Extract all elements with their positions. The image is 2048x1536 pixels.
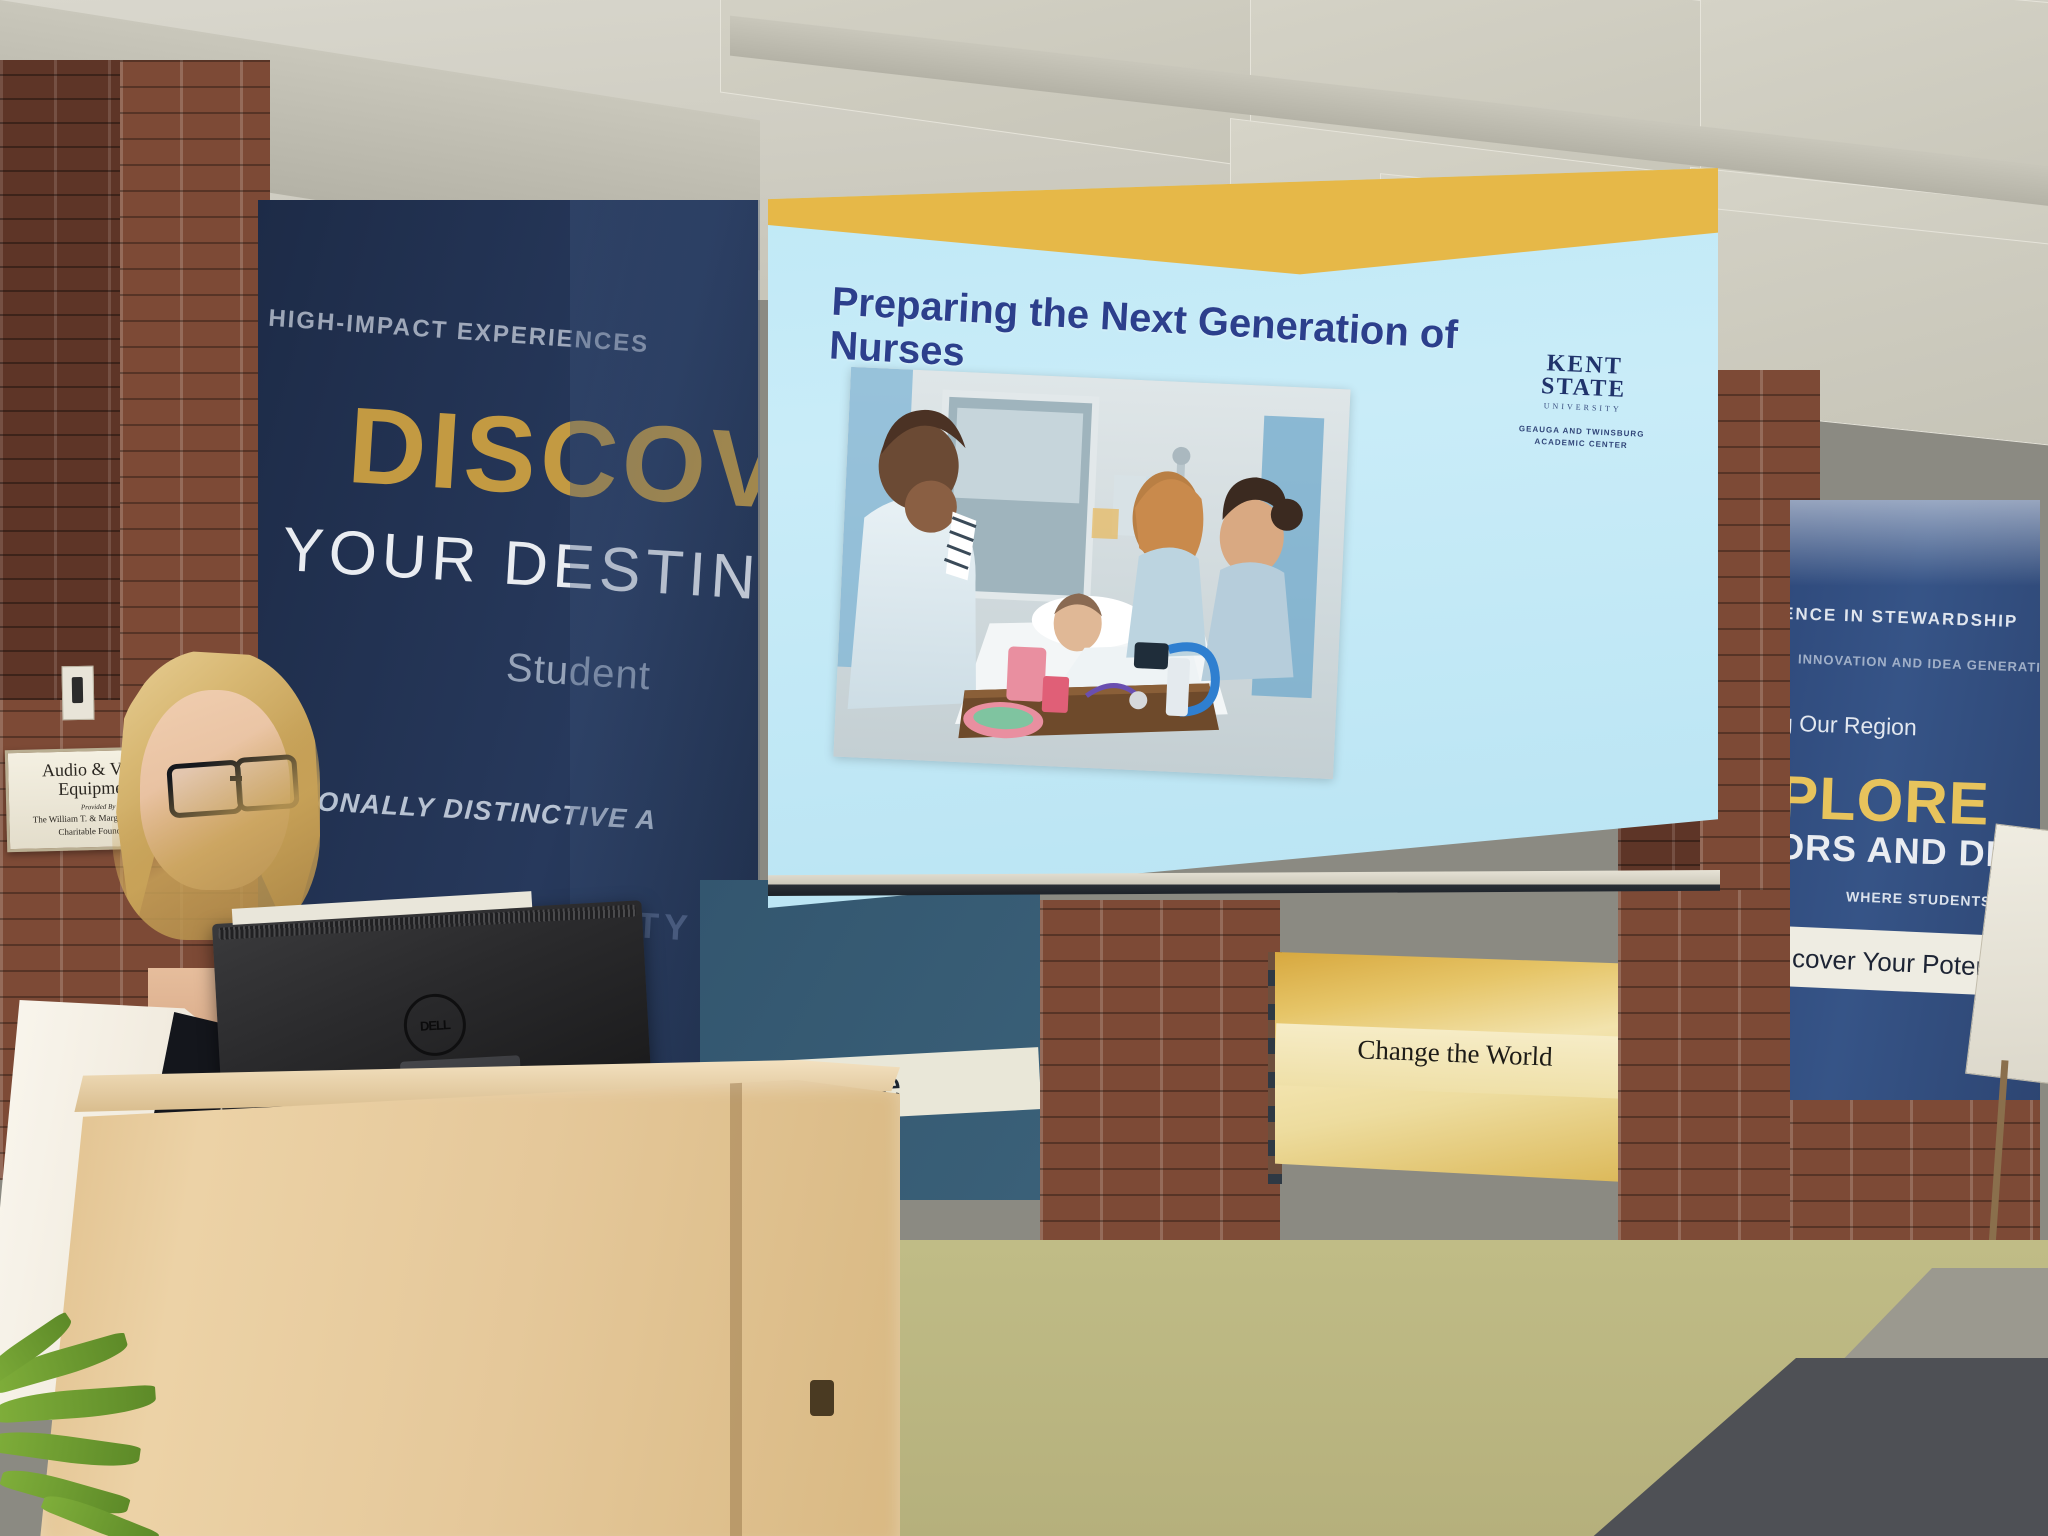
projection-screen: Preparing the Next Generation of Nurses: [768, 168, 1718, 948]
banner-right-line2: INNOVATION AND IDEA GENERATION: [1798, 651, 2040, 675]
speaker-hair-shading: [112, 650, 320, 940]
banner-right-line3: g Our Region: [1790, 710, 1917, 742]
potted-fern: [0, 1340, 250, 1536]
slide-photo-nursing-sim: [833, 367, 1350, 779]
podium-latch: [810, 1380, 834, 1416]
brick-wall-left-shadow: [0, 60, 120, 700]
dell-logo: DELL: [402, 992, 467, 1057]
projected-slide: Preparing the Next Generation of Nurses: [768, 168, 1718, 908]
fern-frond: [0, 1426, 141, 1473]
light-switch[interactable]: [62, 666, 95, 721]
podium-panel-seam: [730, 1080, 742, 1536]
change-the-world-panel: Change the World: [1275, 952, 1625, 1182]
fern-frond: [0, 1384, 157, 1423]
av-sign-provided-by: Provided By: [81, 803, 116, 812]
banner-right-line1: ENCE IN STEWARDSHIP: [1790, 604, 2019, 632]
banner-right-glare: [1790, 500, 2040, 586]
nursing-sim-illustration: [833, 367, 1350, 779]
logo-campus-line: GEAUGA AND TWINSBURG ACADEMIC CENTER: [1506, 422, 1657, 453]
kent-state-logo: KENT STATE UNIVERSITY GEAUGA AND TWINSBU…: [1506, 351, 1660, 453]
presentation-room-photo: HIGH-IMPACT EXPERIENCES DISCOVER YOUR DE…: [0, 0, 2048, 1536]
